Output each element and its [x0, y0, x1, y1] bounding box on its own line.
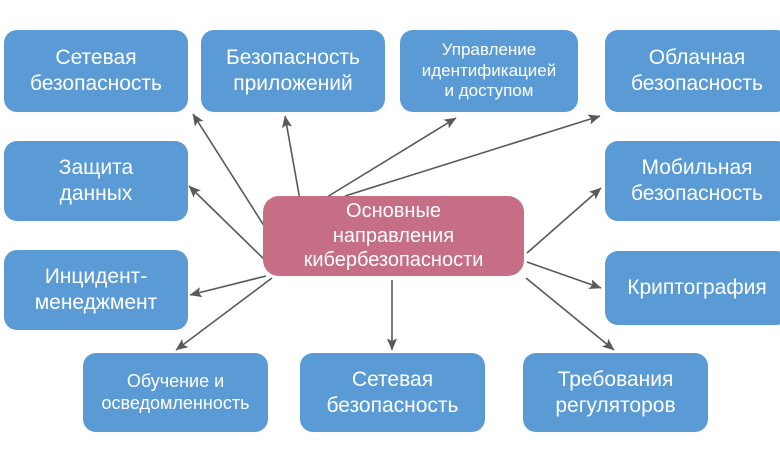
arrow-to-application-security — [285, 116, 300, 200]
node-network-security-bottom[interactable]: Сетевая безопасность — [300, 353, 485, 432]
node-regulatory-requirements[interactable]: Требования регуляторов — [523, 353, 708, 432]
arrow-to-identity-access-management — [327, 118, 456, 197]
node-core-cybersecurity-areas[interactable]: Основные направления кибербезопасности — [263, 196, 524, 276]
arrow-to-mobile-security — [527, 188, 601, 253]
node-training-awareness[interactable]: Обучение и осведомленность — [83, 353, 268, 432]
arrow-to-incident-management — [190, 276, 266, 295]
node-network-security-top[interactable]: Сетевая безопасность — [4, 30, 188, 112]
node-identity-access-management[interactable]: Управление идентификацией и доступом — [400, 30, 578, 112]
arrow-to-training-awareness — [176, 278, 272, 350]
node-cryptography[interactable]: Криптография — [605, 251, 780, 325]
node-data-protection[interactable]: Защита данных — [4, 141, 188, 221]
diagram-canvas: Сетевая безопасность Безопасность прилож… — [0, 0, 780, 470]
node-application-security[interactable]: Безопасность приложений — [201, 30, 385, 112]
arrow-to-regulatory-requirements — [526, 278, 614, 350]
arrow-to-cryptography — [527, 262, 601, 288]
node-cloud-security[interactable]: Облачная безопасность — [605, 30, 780, 112]
arrow-to-data-protection — [189, 186, 268, 263]
arrow-to-cloud-security — [345, 116, 600, 196]
arrow-to-network-security-top — [193, 114, 268, 232]
node-mobile-security[interactable]: Мобильная безопасность — [605, 141, 780, 221]
node-incident-management[interactable]: Инцидент- менеджмент — [4, 250, 188, 330]
